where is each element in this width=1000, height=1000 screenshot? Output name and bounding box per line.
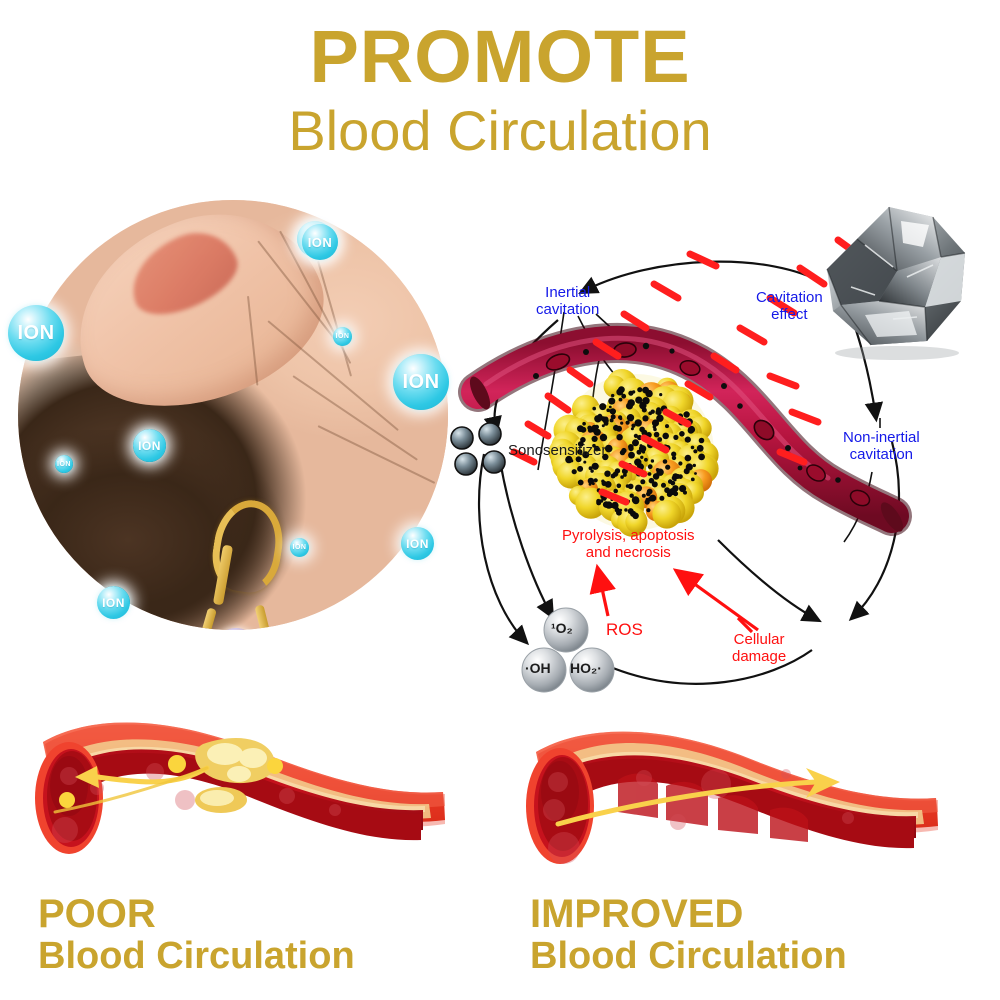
ion-bubble: ION — [290, 538, 309, 557]
nanoparticle-dot — [674, 478, 677, 481]
nanoparticle-dot — [664, 487, 670, 493]
poor-blood-vessel-illustration — [25, 700, 455, 885]
ion-bubble: ION — [97, 586, 130, 619]
nanoparticle-dot — [632, 496, 639, 503]
label-line: effect — [771, 306, 807, 323]
molecule-formula: HO₂· — [570, 660, 602, 676]
nanoparticle-dot — [648, 464, 653, 469]
nanoparticle-dot — [640, 479, 645, 484]
label-line: and necrosis — [586, 544, 671, 561]
ion-bubble: ION — [302, 224, 338, 260]
nanoparticle-dot — [578, 480, 584, 486]
improved-blood-vessel-illustration — [518, 700, 948, 885]
nanoparticle-dot — [693, 449, 697, 453]
nanoparticle-dot — [659, 393, 662, 396]
molecule-hydroperoxyl-radical: HO₂· — [570, 661, 602, 677]
nanoparticle-dot — [679, 431, 685, 437]
nanoparticle-dot — [642, 450, 645, 453]
nanoparticle-dot — [648, 497, 653, 502]
nanoparticle-dot — [644, 458, 648, 462]
nanoparticle-dot — [656, 468, 660, 472]
nanoparticle-dot — [588, 478, 594, 484]
nanoparticle-dot — [679, 485, 686, 492]
nanoparticle-dot — [619, 398, 623, 402]
nanoparticle-dot — [604, 471, 610, 477]
nanoparticle-dot — [642, 387, 649, 394]
nanoparticle-dot — [603, 501, 610, 508]
nanoparticle-dot — [640, 456, 643, 459]
nanoparticle-dot — [626, 421, 630, 425]
nanoparticle-dot — [602, 481, 607, 486]
page-title: PROMOTE — [0, 20, 1000, 94]
nanoparticle-dot — [637, 450, 642, 455]
label-line: damage — [732, 648, 786, 665]
nanoparticle-dot — [691, 446, 695, 450]
nanoparticle-dot — [691, 478, 695, 482]
nanoparticle-dot — [609, 409, 614, 414]
nanoparticle-dot — [648, 472, 652, 476]
page-subtitle: Blood Circulation — [0, 100, 1000, 162]
nanoparticle-dot — [594, 478, 598, 482]
label-line: cavitation — [536, 301, 599, 318]
nanoparticle-dot — [648, 411, 652, 415]
nanoparticle-dot — [620, 475, 624, 479]
nanoparticle-dot — [626, 484, 630, 488]
label-pyrolysis-apoptosis-necrosis: Pyrolysis, apoptosis and necrosis — [562, 528, 695, 562]
nanoparticle-dot — [592, 407, 596, 411]
nanoparticle-dot — [611, 414, 616, 419]
nanoparticle-dot — [694, 472, 697, 475]
header: PROMOTE Blood Circulation — [0, 0, 1000, 162]
nanoparticle-dot — [697, 445, 704, 452]
nanoparticle-dot — [592, 463, 599, 470]
nanoparticle-dot — [651, 459, 654, 462]
label-line: ROS — [606, 620, 643, 639]
sonosensitizer-particles — [451, 423, 505, 475]
nanoparticle-dot — [663, 459, 668, 464]
nanoparticle-dot — [617, 484, 622, 489]
label-line: Cellular — [734, 631, 785, 648]
nanoparticle-dot — [616, 389, 623, 396]
label-cellular-damage: Cellular damage — [732, 632, 786, 666]
nanoparticle-dot — [590, 469, 593, 472]
nanoparticle-dot — [634, 459, 641, 466]
nanoparticle-dot — [594, 429, 601, 436]
label-sonosensitizer: Sonosensitizer — [508, 443, 606, 460]
label-line: Inertial — [545, 284, 590, 301]
photo-clip — [18, 200, 448, 630]
nanoparticle-dot — [603, 418, 609, 424]
nanoparticle-dot — [665, 465, 670, 470]
label-inertial-cavitation: Inertial cavitation — [536, 285, 599, 319]
nanoparticle-dot — [683, 411, 689, 417]
label-line: Non-inertial — [843, 429, 920, 446]
nanoparticle-dot — [665, 424, 669, 428]
nanoparticle-dot — [678, 474, 683, 479]
nanoparticle-dot — [653, 428, 657, 432]
caption-poor-circulation: POOR Blood Circulation — [38, 893, 355, 978]
nanoparticle-dot — [621, 448, 626, 453]
caption-keyword: POOR — [38, 893, 355, 935]
nanoparticle-dot — [654, 432, 660, 438]
nanoparticle-dot — [670, 481, 675, 486]
nanoparticle-dot — [613, 489, 618, 494]
label-ros: ROS — [606, 620, 643, 639]
nanoparticle-dot — [684, 468, 690, 474]
nanoparticle-dot — [656, 415, 663, 422]
nanoparticle-dot — [646, 508, 650, 512]
ion-bubble: ION — [8, 305, 64, 361]
nanoparticle-dot — [632, 513, 639, 520]
nanoparticle-dot — [657, 437, 662, 442]
nanoparticle-dot — [628, 446, 633, 451]
nanoparticle-dot — [620, 422, 623, 425]
nanoparticle-dot — [599, 403, 606, 410]
nanoparticle-dot — [699, 438, 705, 444]
ion-bubble: ION — [333, 327, 352, 346]
ion-bubble: ION — [55, 455, 73, 473]
nanoparticle-dot — [671, 452, 676, 457]
nanoparticle-dot — [662, 433, 669, 440]
nanoparticle-dot — [577, 466, 583, 472]
nanoparticle-dot — [686, 437, 689, 440]
nanoparticle-dot — [637, 387, 642, 392]
caption-keyword: IMPROVED — [530, 893, 847, 935]
tumor-cell — [652, 500, 681, 529]
nanoparticle-dot — [639, 427, 645, 433]
nanoparticle-dot — [615, 507, 620, 512]
nanoparticle-dot — [624, 508, 627, 511]
nanoparticle-dot — [669, 488, 676, 495]
label-line: cavitation — [850, 446, 913, 463]
nanoparticle-dot — [635, 397, 642, 404]
nanoparticle-dot — [642, 494, 646, 498]
nanoparticle-dot — [608, 398, 615, 405]
ion-bubble: ION — [133, 429, 166, 462]
nanoparticle-dot — [627, 414, 634, 421]
nanoparticle-dot — [635, 485, 642, 492]
label-line: Sonosensitizer — [508, 442, 606, 459]
molecule-singlet-oxygen: ¹O₂ — [551, 621, 573, 637]
nanoparticle-dot — [632, 439, 639, 446]
nanoparticle-dot — [594, 415, 601, 422]
nanoparticle-dot — [656, 412, 659, 415]
nanoparticle-dot — [580, 427, 586, 433]
nanoparticle-dot — [602, 424, 605, 427]
nanoparticle-dot — [635, 419, 642, 426]
nanoparticle-dot — [628, 452, 635, 459]
ion-bubble: ION — [401, 527, 434, 560]
nanoparticle-dot — [642, 415, 648, 421]
nanoparticle-dot — [698, 454, 705, 461]
nanoparticle-dot — [609, 406, 612, 409]
nanoparticle-dot — [572, 469, 577, 474]
nanoparticle-dot — [616, 434, 622, 440]
caption-improved-circulation: IMPROVED Blood Circulation — [530, 893, 847, 978]
nanoparticle-dot — [613, 471, 618, 476]
ear-photo-circle — [18, 200, 448, 630]
nanoparticle-dot — [626, 403, 633, 410]
promotional-infographic: PROMOTE Blood Circulation — [0, 0, 1000, 1000]
nanoparticle-dot — [582, 422, 586, 426]
caption-subtitle: Blood Circulation — [38, 935, 355, 978]
nanoparticle-dot — [693, 464, 696, 467]
nanoparticle-dot — [649, 478, 655, 484]
nanoparticle-dot — [640, 444, 643, 447]
nanoparticle-dot — [653, 473, 660, 480]
molecule-formula: ¹O₂ — [551, 620, 573, 636]
nanoparticle-dot — [611, 394, 614, 397]
germanium-mineral-stone — [805, 195, 980, 360]
nanoparticle-dot — [673, 435, 678, 440]
molecule-formula: ·OH — [525, 660, 551, 676]
label-non-inertial-cavitation: Non-inertial cavitation — [843, 430, 920, 464]
nanoparticle-dot — [613, 425, 619, 431]
nanoparticle-dot — [659, 496, 664, 501]
nanoparticle-dot — [618, 415, 622, 419]
nanoparticle-dot — [678, 461, 682, 465]
label-line: Pyrolysis, apoptosis — [562, 527, 695, 544]
caption-subtitle: Blood Circulation — [530, 935, 847, 978]
nanoparticle-dot — [600, 434, 607, 441]
nanoparticle-dot — [628, 391, 633, 396]
nanoparticle-dot — [647, 489, 653, 495]
nanoparticle-dot — [583, 461, 586, 464]
molecule-hydroxyl-radical: ·OH — [525, 661, 551, 677]
nanoparticle-dot — [661, 483, 666, 488]
nanoparticle-dot — [685, 455, 692, 462]
